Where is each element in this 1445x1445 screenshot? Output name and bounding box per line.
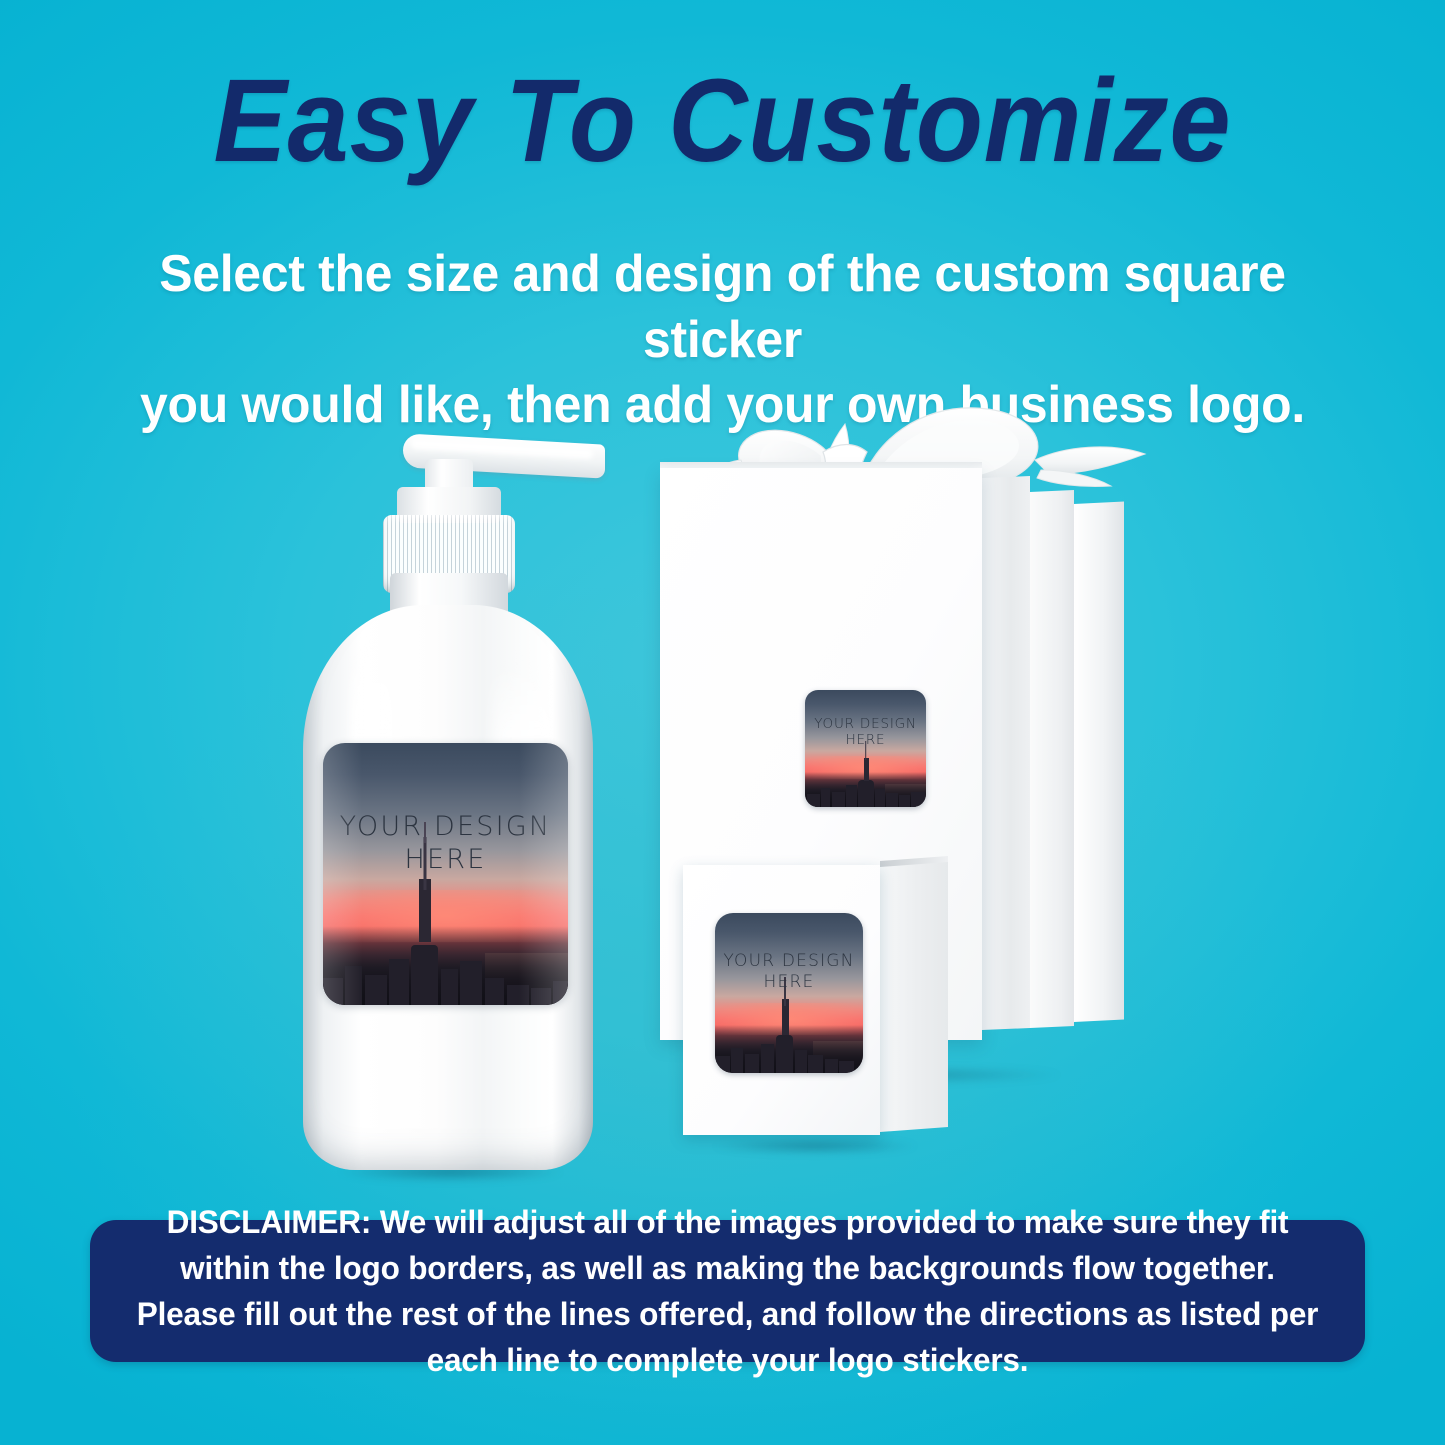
page-title: Easy To Customize bbox=[51, 62, 1395, 180]
sticker-line-1: YOUR DESIGN bbox=[810, 716, 921, 732]
sticker-line-1: YOUR DESIGN bbox=[333, 811, 558, 844]
small-box-sticker: YOUR DESIGN HERE bbox=[715, 913, 863, 1073]
disclaimer-text: DISCLAIMER: We will adjust all of the im… bbox=[134, 1199, 1320, 1384]
bottle-sticker-label: YOUR DESIGN HERE bbox=[333, 811, 558, 877]
small-box-sticker-label: YOUR DESIGN HERE bbox=[721, 951, 857, 992]
city-skyline bbox=[715, 1025, 863, 1073]
gift-box-sticker-label: YOUR DESIGN HERE bbox=[810, 716, 921, 749]
gift-box-side-panel-3 bbox=[1074, 502, 1124, 1022]
sticker-line-2: HERE bbox=[810, 732, 921, 748]
sticker-line-1: YOUR DESIGN bbox=[721, 951, 857, 972]
bottle-sticker: YOUR DESIGN HERE bbox=[323, 743, 568, 1005]
small-box-side-panel bbox=[880, 862, 948, 1132]
sticker-line-2: HERE bbox=[333, 844, 558, 877]
subtitle-line-1: Select the size and design of the custom… bbox=[135, 242, 1311, 373]
promo-banner: Easy To Customize Select the size and de… bbox=[0, 0, 1445, 1445]
city-skyline bbox=[323, 926, 568, 1005]
pump-bottle-mockup: YOUR DESIGN HERE bbox=[285, 425, 615, 1185]
gift-box-side-panel-1 bbox=[982, 476, 1030, 1030]
sticker-line-2: HERE bbox=[721, 972, 857, 993]
gift-box-side-panel-2 bbox=[1030, 490, 1074, 1028]
disclaimer-panel: DISCLAIMER: We will adjust all of the im… bbox=[90, 1220, 1365, 1362]
gift-box-sticker: YOUR DESIGN HERE bbox=[805, 690, 926, 807]
disclaimer-label: DISCLAIMER: bbox=[167, 1204, 372, 1240]
small-box-shadow bbox=[675, 1136, 955, 1156]
small-box-mockup: YOUR DESIGN HERE bbox=[665, 855, 965, 1160]
